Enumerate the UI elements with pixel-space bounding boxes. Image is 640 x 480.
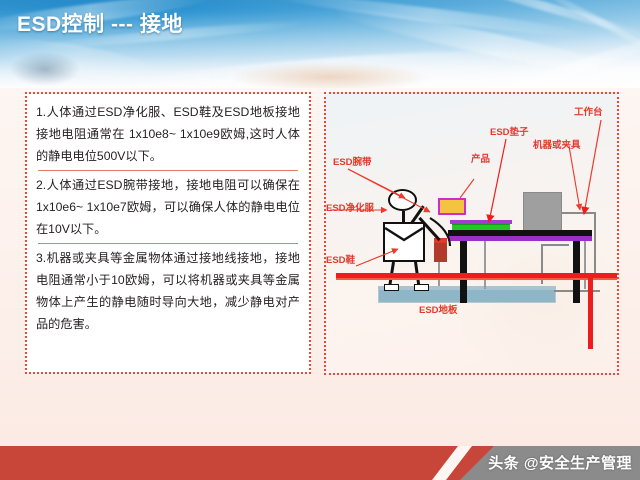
label-product: 产品 <box>471 151 490 165</box>
footer-bar: 头条 @安全生产管理 <box>0 446 640 480</box>
paragraph-divider <box>38 243 298 244</box>
paragraph-1: 1.人体通过ESD净化服、ESD鞋及ESD地板接地接地电阻通常在 1x10e8~… <box>36 101 300 167</box>
banner-shadow-blot <box>10 52 80 86</box>
slide-canvas: ESD控制 --- 接地 1.人体通过ESD净化服、ESD鞋及ESD地板接地接地… <box>0 0 640 480</box>
esd-grounding-diagram: ESD腕带 ESD净化服 ESD鞋 ESD地板 产品 ESD垫子 机器或夹具 工… <box>324 92 619 375</box>
title-banner: ESD控制 --- 接地 <box>0 0 640 88</box>
label-esd-mat: ESD垫子 <box>490 124 529 138</box>
paragraph-2: 2.人体通过ESD腕带接地，接地电阻可以确保在 1x10e6~ 1x10e7欧姆… <box>36 174 300 240</box>
label-esd-floor: ESD地板 <box>419 302 458 316</box>
banner-warm-blot <box>230 62 430 88</box>
label-wrist-strap: ESD腕带 <box>333 154 372 168</box>
footer-watermark: 头条 @安全生产管理 <box>488 452 632 473</box>
label-esd-smock: ESD净化服 <box>326 200 374 214</box>
label-esd-shoes: ESD鞋 <box>326 252 355 266</box>
explanation-textbox: 1.人体通过ESD净化服、ESD鞋及ESD地板接地接地电阻通常在 1x10e8~… <box>25 92 311 374</box>
paragraph-divider <box>38 170 298 171</box>
label-machine-or-fixture: 机器或夹具 <box>533 137 581 151</box>
paragraph-3: 3.机器或夹具等金属物体通过接地线接地，接地电阻通常小于10欧姆，可以将机器或夹… <box>36 247 300 335</box>
page-title: ESD控制 --- 接地 <box>17 8 183 38</box>
label-workbench: 工作台 <box>574 104 603 118</box>
